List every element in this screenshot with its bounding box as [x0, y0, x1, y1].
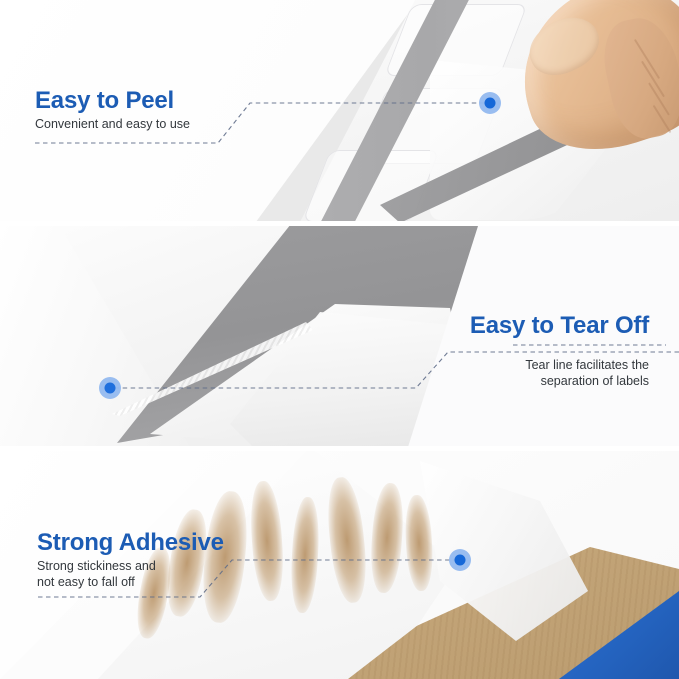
- panel-divider: [0, 221, 679, 226]
- callout-subtitle: Tear line facilitates the separation of …: [470, 357, 649, 389]
- callout-title: Easy to Peel: [35, 88, 190, 113]
- callout-easy-to-peel: Easy to Peel Convenient and easy to use: [35, 88, 190, 132]
- callout-subtitle: Convenient and easy to use: [35, 116, 190, 132]
- callout-title: Strong Adhesive: [37, 530, 224, 555]
- callout-title: Easy to Tear Off: [470, 313, 649, 338]
- callout-strong-adhesive: Strong Adhesive Strong stickiness and no…: [37, 530, 224, 590]
- infographic-root: Easy to Peel Convenient and easy to use …: [0, 0, 679, 679]
- callout-subtitle: Strong stickiness and not easy to fall o…: [37, 558, 224, 590]
- panel-divider: [0, 446, 679, 451]
- callout-easy-to-tear-off: Easy to Tear Off Tear line facilitates t…: [470, 313, 649, 389]
